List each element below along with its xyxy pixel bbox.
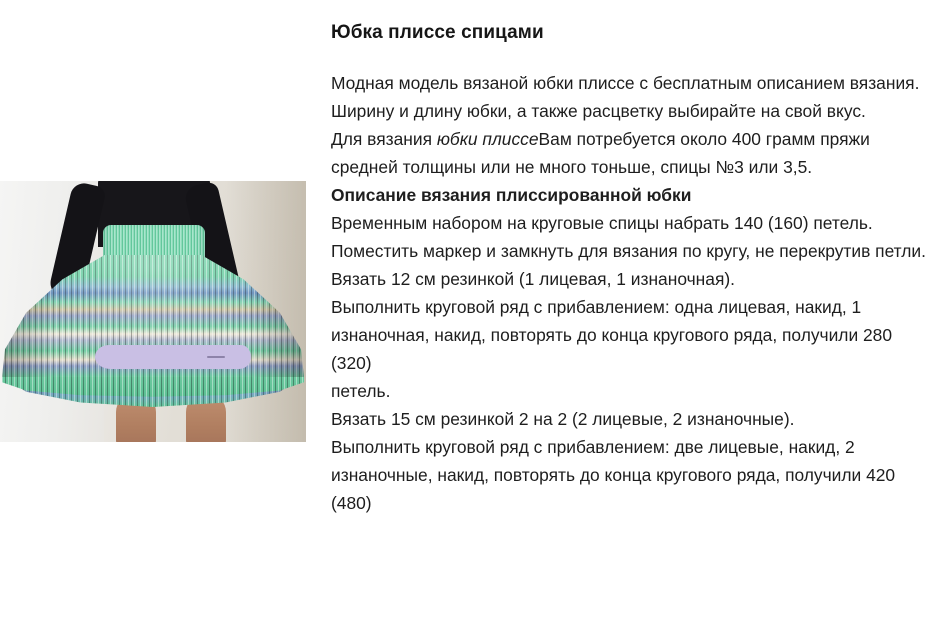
paragraph-increase-round-1: Выполнить круговой ряд с прибавлением: о… <box>331 293 935 377</box>
section-heading-instructions: Описание вязания плиссированной юбки <box>331 181 935 209</box>
watermark-dash-mark <box>207 356 225 358</box>
paragraph-rib-12cm: Вязать 12 см резинкой (1 лицевая, 1 изна… <box>331 265 935 293</box>
paragraph-rib-15cm: Вязать 15 см резинкой 2 на 2 (2 лицевые,… <box>331 405 935 433</box>
paragraph-increase-round-2: Выполнить круговой ряд с прибавлением: д… <box>331 433 935 517</box>
materials-lead-text: Для вязания <box>331 129 437 149</box>
page-title: Юбка плиссе спицами <box>331 0 935 45</box>
materials-emphasis-text: юбки плиссе <box>437 129 539 149</box>
article-text-column: Юбка плиссе спицами Модная модель вязано… <box>331 0 935 628</box>
skirt-photograph <box>0 181 306 442</box>
paragraph-sizing: Ширину и длину юбки, а также расцветку в… <box>331 97 935 125</box>
paragraph-intro: Модная модель вязаной юбки плиссе с бесп… <box>331 69 935 97</box>
paragraph-materials: Для вязания юбки плиссеВам потребуется о… <box>331 125 935 181</box>
paragraph-cast-on: Временным набором на круговые спицы набр… <box>331 209 935 237</box>
photo-watermark-overlay <box>95 345 251 369</box>
article-photo <box>0 181 306 442</box>
paragraph-marker: Поместить маркер и замкнуть для вязания … <box>331 237 935 265</box>
paragraph-stitch-count-1: петель. <box>331 377 935 405</box>
article-body: Модная модель вязаной юбки плиссе с бесп… <box>331 45 935 517</box>
